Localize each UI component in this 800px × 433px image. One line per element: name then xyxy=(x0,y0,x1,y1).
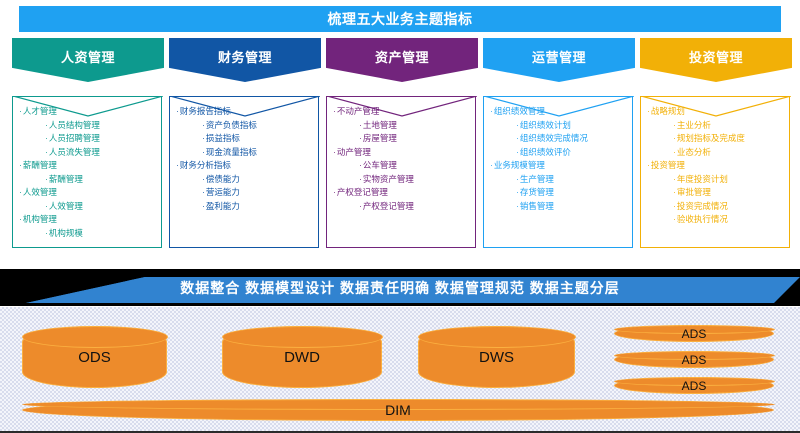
group-item: 组织绩效计划 xyxy=(488,119,628,133)
column-header-label: 人资管理 xyxy=(61,47,115,66)
column-header-renzi: 人资管理 xyxy=(12,38,164,82)
group-item: 资产负债指标 xyxy=(174,119,314,133)
flat-cylinder-label: DIM xyxy=(23,400,773,420)
diagram-canvas: 梳理五大业务主题指标 人资管理 人才管理 人员结构管理 人员招聘管理 人员流失管… xyxy=(0,0,800,433)
theme-column-renzi: 人资管理 人才管理 人员结构管理 人员招聘管理 人员流失管理 薪酬管理 薪酬管理… xyxy=(12,38,164,248)
group-item: 实物资产管理 xyxy=(331,173,471,187)
group-label: 投资管理 xyxy=(645,159,785,173)
group-item: 公车管理 xyxy=(331,159,471,173)
flat-cylinder-label: ADS xyxy=(615,378,773,393)
group-item: 营运能力 xyxy=(174,186,314,200)
title-banner-label: 梳理五大业务主题指标 xyxy=(328,9,473,29)
flat-cylinder-label: ADS xyxy=(615,326,773,341)
group-label: 财务报告指标 xyxy=(174,105,314,119)
group-label: 财务分析指标 xyxy=(174,159,314,173)
group-item: 损益指标 xyxy=(174,132,314,146)
flat-cylinder-label: ADS xyxy=(615,352,773,367)
flat-cylinder-ads-3: ADS xyxy=(614,377,774,394)
group-item: 土地管理 xyxy=(331,119,471,133)
column-header-label: 投资管理 xyxy=(689,47,743,66)
group-item: 人员招聘管理 xyxy=(17,132,157,146)
group-label: 战略规划 xyxy=(645,105,785,119)
cylinder-ods: ODS xyxy=(22,326,167,388)
group-label: 薪酬管理 xyxy=(17,159,157,173)
cylinder-dwd: DWD xyxy=(222,326,382,388)
column-header-caiwu: 财务管理 xyxy=(169,38,321,82)
group-item: 组织绩效评价 xyxy=(488,146,628,160)
column-body-yunying: 组织绩效管理 组织绩效计划 组织绩效完成情况 组织绩效评价 业务规模管理 生产管… xyxy=(483,96,633,248)
group-item: 主业分析 xyxy=(645,119,785,133)
group-label: 组织绩效管理 xyxy=(488,105,628,119)
group-item: 薪酬管理 xyxy=(17,173,157,187)
title-banner: 梳理五大业务主题指标 xyxy=(19,6,781,32)
warehouse-panel: ODS DWD DWS ADS ADS ADS DIM xyxy=(0,307,800,433)
group-item: 业态分析 xyxy=(645,146,785,160)
column-header-touzi: 投资管理 xyxy=(640,38,792,82)
column-header-label: 运营管理 xyxy=(532,47,586,66)
column-body-renzi: 人才管理 人员结构管理 人员招聘管理 人员流失管理 薪酬管理 薪酬管理 人效管理… xyxy=(12,96,162,248)
group-label: 人才管理 xyxy=(17,105,157,119)
group-item: 人效管理 xyxy=(17,200,157,214)
group-item: 规划指标及完成度 xyxy=(645,132,785,146)
group-item: 存货管理 xyxy=(488,186,628,200)
group-item: 生产管理 xyxy=(488,173,628,187)
cylinder-label: ODS xyxy=(23,327,166,387)
group-label: 人效管理 xyxy=(17,186,157,200)
column-header-label: 资产管理 xyxy=(375,47,429,66)
flat-cylinder-dim: DIM xyxy=(22,399,774,421)
column-header-zichan: 资产管理 xyxy=(326,38,478,82)
group-item: 房屋管理 xyxy=(331,132,471,146)
group-label: 不动产管理 xyxy=(331,105,471,119)
group-item: 审批管理 xyxy=(645,186,785,200)
column-header-yunying: 运营管理 xyxy=(483,38,635,82)
group-item: 偿债能力 xyxy=(174,173,314,187)
column-header-label: 财务管理 xyxy=(218,47,272,66)
theme-column-touzi: 投资管理 战略规划 主业分析 规划指标及完成度 业态分析 投资管理 年度投资计划… xyxy=(640,38,792,248)
flat-cylinder-ads-2: ADS xyxy=(614,351,774,368)
mid-banner: 数据整合 数据模型设计 数据责任明确 数据管理规范 数据主题分层 xyxy=(0,269,800,306)
group-item: 现金流量指标 xyxy=(174,146,314,160)
group-item: 销售管理 xyxy=(488,200,628,214)
group-item: 投资完成情况 xyxy=(645,200,785,214)
group-item: 年度投资计划 xyxy=(645,173,785,187)
group-item: 人员流失管理 xyxy=(17,146,157,160)
mid-banner-label: 数据整合 数据模型设计 数据责任明确 数据管理规范 数据主题分层 xyxy=(0,269,800,306)
theme-column-zichan: 资产管理 不动产管理 土地管理 房屋管理 动产管理 公车管理 实物资产管理 产权… xyxy=(326,38,478,248)
theme-column-caiwu: 财务管理 财务报告指标 资产负债指标 损益指标 现金流量指标 财务分析指标 偿债… xyxy=(169,38,321,248)
column-body-zichan: 不动产管理 土地管理 房屋管理 动产管理 公车管理 实物资产管理 产权登记管理 … xyxy=(326,96,476,248)
cylinder-dws: DWS xyxy=(418,326,575,388)
group-label: 机构管理 xyxy=(17,213,157,227)
cylinder-label: DWS xyxy=(419,327,574,387)
column-body-caiwu: 财务报告指标 资产负债指标 损益指标 现金流量指标 财务分析指标 偿债能力 营运… xyxy=(169,96,319,248)
flat-cylinder-ads-1: ADS xyxy=(614,325,774,342)
group-item: 人员结构管理 xyxy=(17,119,157,133)
group-item: 验收执行情况 xyxy=(645,213,785,227)
group-label: 动产管理 xyxy=(331,146,471,160)
group-item: 组织绩效完成情况 xyxy=(488,132,628,146)
theme-column-yunying: 运营管理 组织绩效管理 组织绩效计划 组织绩效完成情况 组织绩效评价 业务规模管… xyxy=(483,38,635,248)
cylinder-label: DWD xyxy=(223,327,381,387)
group-item: 机构规模 xyxy=(17,227,157,241)
group-label: 产权登记管理 xyxy=(331,186,471,200)
group-label: 业务规模管理 xyxy=(488,159,628,173)
column-body-touzi: 战略规划 主业分析 规划指标及完成度 业态分析 投资管理 年度投资计划 审批管理… xyxy=(640,96,790,248)
group-item: 产权登记管理 xyxy=(331,200,471,214)
group-item: 盈利能力 xyxy=(174,200,314,214)
